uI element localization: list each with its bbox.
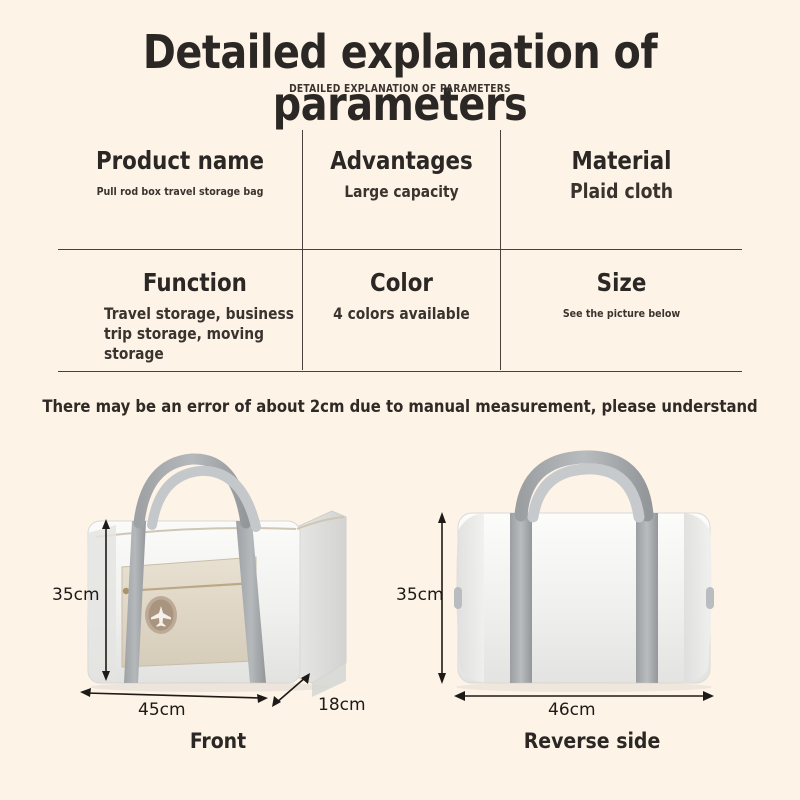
product-figure-reverse: 35cm 46cm: [420, 445, 760, 715]
spec-value: 4 colors available: [307, 304, 496, 324]
depth-arrow-start: [272, 696, 281, 707]
height-arrow-bottom: [438, 673, 446, 684]
reverse-height-label: 35cm: [396, 585, 444, 605]
reverse-caption: Reverse side: [462, 728, 722, 754]
width-arrow-left: [454, 691, 465, 701]
front-caption: Front: [88, 728, 348, 754]
spec-value: Travel storage, business trip storage, m…: [104, 304, 294, 364]
spec-value: See the picture below: [506, 306, 737, 321]
side-grab-handle-left: [454, 587, 462, 609]
spec-table: Product name Pull rod box travel storage…: [58, 128, 742, 372]
bag-strap-right: [636, 513, 658, 683]
side-grab-handle-right: [706, 587, 714, 609]
bag-handle-front: [533, 469, 639, 517]
bag-body: [458, 513, 710, 683]
bag-front-illustration: [60, 445, 400, 715]
measurement-note: There may be an error of about 2cm due t…: [12, 396, 788, 418]
table-bottom-rule: [58, 371, 742, 372]
spec-value: Large capacity: [307, 182, 496, 202]
product-spec-page: Detailed explanation of parameters DETAI…: [0, 0, 800, 800]
spec-cell-size: Size See the picture below: [501, 268, 742, 321]
spec-cell-function: Function Travel storage, business trip s…: [104, 268, 302, 364]
spec-label: Advantages: [308, 146, 495, 176]
page-title: Detailed explanation of parameters: [16, 26, 784, 130]
bag-shadow: [456, 682, 712, 692]
front-width-label: 45cm: [138, 700, 186, 720]
reverse-width-label: 46cm: [548, 700, 596, 720]
spec-value: Pull rod box travel storage bag: [63, 184, 297, 199]
spec-cell-product-name: Product name Pull rod box travel storage…: [58, 146, 302, 199]
spec-label: Function: [98, 268, 292, 298]
pocket-zipper-pull: [123, 588, 129, 594]
width-arrow-line: [86, 693, 262, 698]
spec-label: Size: [507, 268, 736, 298]
spec-cell-material: Material Plaid cloth: [501, 146, 742, 204]
bag-reverse-illustration: [420, 445, 760, 715]
airplane-badge: [145, 596, 177, 634]
spec-label: Product name: [64, 146, 296, 176]
spec-cell-color: Color 4 colors available: [303, 268, 500, 324]
product-figure-front: 35cm 45cm 18cm: [60, 445, 400, 715]
spec-cell-advantages: Advantages Large capacity: [303, 146, 500, 202]
spec-label: Material: [507, 146, 736, 176]
width-arrow-right: [257, 694, 268, 703]
height-arrow-top: [438, 512, 446, 523]
front-height-label: 35cm: [52, 585, 100, 605]
front-depth-label: 18cm: [318, 695, 366, 715]
spec-label: Color: [308, 268, 495, 298]
page-subtitle: DETAILED EXPLANATION OF PARAMETERS: [32, 82, 768, 96]
spec-value: Plaid cloth: [506, 179, 737, 204]
bag-strap-left: [510, 513, 532, 683]
bag-side-panel: [297, 511, 346, 683]
width-arrow-left: [80, 688, 91, 697]
width-arrow-right: [703, 691, 714, 701]
table-row-divider: [58, 249, 742, 250]
